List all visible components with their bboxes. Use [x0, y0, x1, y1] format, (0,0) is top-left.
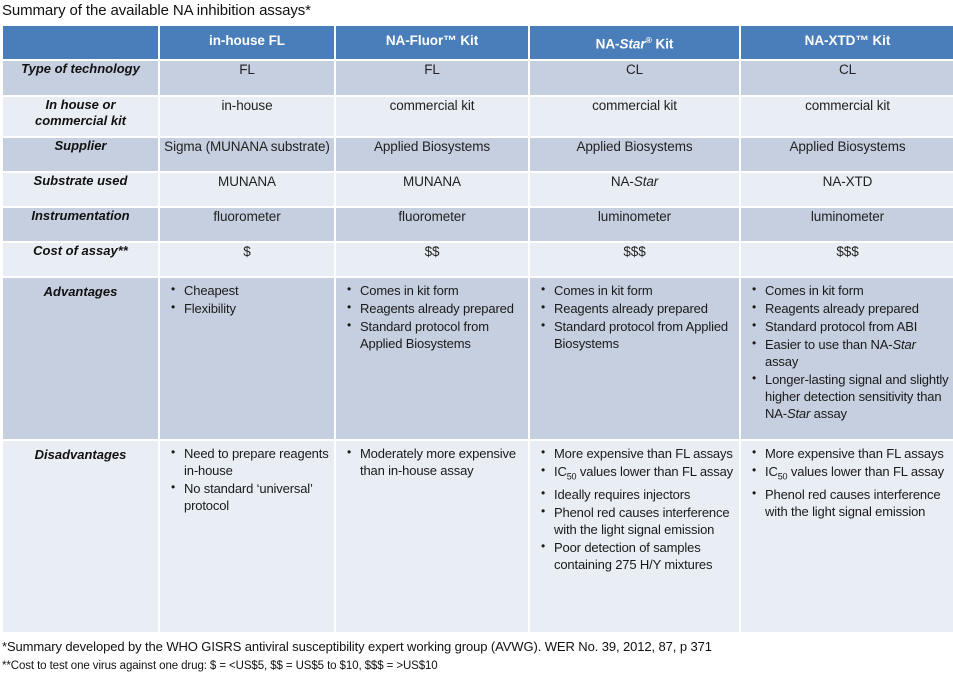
table-header-row: in-house FL NA-Fluor™ Kit NA-Star® Kit N…	[3, 26, 953, 59]
bullet-list: More expensive than FL assaysIC50 values…	[530, 445, 739, 574]
cell-type-of-technology-inhouse-fl: FL	[160, 61, 334, 95]
bullet-item: Comes in kit form	[763, 282, 950, 299]
cell-disadvantages-inhouse-fl: Need to prepare reagents in-houseNo stan…	[160, 441, 334, 632]
bullet-item: Reagents already prepared	[763, 300, 950, 317]
bullet-list: Comes in kit formReagents already prepar…	[530, 282, 739, 352]
cell-substrate-used-na-xtd: NA-XTD	[741, 173, 953, 206]
row-label-instrumentation: Instrumentation	[3, 208, 158, 241]
table-row-disadvantages: Disadvantages Need to prepare reagents i…	[3, 441, 953, 632]
cell-in-house-or-commercial-kit-na-fluor: commercial kit	[336, 97, 528, 136]
bullet-list: Moderately more expensive than in-house …	[336, 445, 528, 479]
bullet-item: Moderately more expensive than in-house …	[358, 445, 524, 479]
cell-supplier-na-xtd: Applied Biosystems	[741, 138, 953, 171]
row-label-supplier: Supplier	[3, 138, 158, 171]
table-row-supplier: Supplier Sigma (MUNANA substrate) Applie…	[3, 138, 953, 171]
table-row-type-of-technology: Type of technology FL FL CL CL	[3, 61, 953, 95]
cell-in-house-or-commercial-kit-na-star: commercial kit	[530, 97, 739, 136]
footnote-summary-source: *Summary developed by the WHO GISRS anti…	[2, 638, 953, 655]
bullet-item: Longer-lasting signal and slightly highe…	[763, 371, 950, 422]
cell-disadvantages-na-fluor: Moderately more expensive than in-house …	[336, 441, 528, 632]
column-header-inhouse-fl: in-house FL	[160, 26, 334, 59]
table-row-advantages: Advantages CheapestFlexibility Comes in …	[3, 278, 953, 439]
column-header-na-xtd: NA-XTD™ Kit	[741, 26, 953, 59]
bullet-item: Reagents already prepared	[358, 300, 524, 317]
bullet-item: IC50 values lower than FL assay	[552, 463, 735, 486]
table-row-in-house-or-commercial-kit: In house orcommercial kit in-house comme…	[3, 97, 953, 136]
cell-disadvantages-na-star: More expensive than FL assaysIC50 values…	[530, 441, 739, 632]
column-header-na-star: NA-Star® Kit	[530, 26, 739, 59]
cell-cost-of-assay-na-star: $$$	[530, 243, 739, 276]
bullet-item: Poor detection of samples containing 275…	[552, 539, 735, 573]
bullet-item: Reagents already prepared	[552, 300, 735, 317]
cell-advantages-na-star: Comes in kit formReagents already prepar…	[530, 278, 739, 439]
row-label-disadvantages: Disadvantages	[3, 441, 158, 632]
bullet-item: Standard protocol from Applied Biosystem…	[358, 318, 524, 352]
table-row-instrumentation: Instrumentation fluorometer fluorometer …	[3, 208, 953, 241]
bullet-item: Easier to use than NA-Star assay	[763, 336, 950, 370]
footnote-cost-legend: **Cost to test one virus against one dru…	[2, 655, 953, 674]
table-body: Type of technology FL FL CL CL In house …	[3, 61, 953, 632]
cell-advantages-na-fluor: Comes in kit formReagents already prepar…	[336, 278, 528, 439]
bullet-item: Standard protocol from ABI	[763, 318, 950, 335]
cell-type-of-technology-na-fluor: FL	[336, 61, 528, 95]
cell-advantages-inhouse-fl: CheapestFlexibility	[160, 278, 334, 439]
bullet-item: Comes in kit form	[358, 282, 524, 299]
page-root: Summary of the available NA inhibition a…	[0, 0, 953, 644]
bullet-item: Flexibility	[182, 300, 330, 317]
cell-type-of-technology-na-star: CL	[530, 61, 739, 95]
bullet-item: Standard protocol from Applied Biosystem…	[552, 318, 735, 352]
table-row-substrate-used: Substrate used MUNANA MUNANA NA-Star NA-…	[3, 173, 953, 206]
bullet-item: Need to prepare reagents in-house	[182, 445, 330, 479]
cell-substrate-used-na-star: NA-Star	[530, 173, 739, 206]
cell-substrate-used-na-fluor: MUNANA	[336, 173, 528, 206]
bullet-list: Comes in kit formReagents already prepar…	[741, 282, 953, 422]
header-corner-blank	[3, 26, 158, 59]
bullet-item: More expensive than FL assays	[763, 445, 950, 462]
cell-advantages-na-xtd: Comes in kit formReagents already prepar…	[741, 278, 953, 439]
bullet-list: CheapestFlexibility	[160, 282, 334, 317]
cell-instrumentation-inhouse-fl: fluorometer	[160, 208, 334, 241]
row-label-substrate-used: Substrate used	[3, 173, 158, 206]
cell-instrumentation-na-fluor: fluorometer	[336, 208, 528, 241]
assay-comparison-table: in-house FL NA-Fluor™ Kit NA-Star® Kit N…	[1, 24, 953, 634]
table-header: in-house FL NA-Fluor™ Kit NA-Star® Kit N…	[3, 26, 953, 59]
bullet-list: More expensive than FL assaysIC50 values…	[741, 445, 953, 521]
bullet-item: Phenol red causes interference with the …	[552, 504, 735, 538]
bullet-item: No standard ‘universal’ protocol	[182, 480, 330, 514]
cell-supplier-na-fluor: Applied Biosystems	[336, 138, 528, 171]
footnotes: *Summary developed by the WHO GISRS anti…	[0, 634, 953, 674]
cell-substrate-used-inhouse-fl: MUNANA	[160, 173, 334, 206]
bullet-list: Comes in kit formReagents already prepar…	[336, 282, 528, 352]
row-label-type-of-technology: Type of technology	[3, 61, 158, 95]
bullet-item: Phenol red causes interference with the …	[763, 486, 950, 520]
bullet-item: More expensive than FL assays	[552, 445, 735, 462]
cell-cost-of-assay-na-fluor: $$	[336, 243, 528, 276]
bullet-list: Need to prepare reagents in-houseNo stan…	[160, 445, 334, 514]
bullet-item: IC50 values lower than FL assay	[763, 463, 950, 486]
cell-instrumentation-na-xtd: luminometer	[741, 208, 953, 241]
cell-supplier-na-star: Applied Biosystems	[530, 138, 739, 171]
cell-in-house-or-commercial-kit-na-xtd: commercial kit	[741, 97, 953, 136]
bullet-item: Cheapest	[182, 282, 330, 299]
cell-supplier-inhouse-fl: Sigma (MUNANA substrate)	[160, 138, 334, 171]
cell-in-house-or-commercial-kit-inhouse-fl: in-house	[160, 97, 334, 136]
cell-instrumentation-na-star: luminometer	[530, 208, 739, 241]
row-label-advantages: Advantages	[3, 278, 158, 439]
cell-cost-of-assay-na-xtd: $$$	[741, 243, 953, 276]
table-row-cost-of-assay: Cost of assay** $ $$ $$$ $$$	[3, 243, 953, 276]
row-label-cost-of-assay: Cost of assay**	[3, 243, 158, 276]
column-header-na-fluor: NA-Fluor™ Kit	[336, 26, 528, 59]
cell-disadvantages-na-xtd: More expensive than FL assaysIC50 values…	[741, 441, 953, 632]
cell-cost-of-assay-inhouse-fl: $	[160, 243, 334, 276]
cell-type-of-technology-na-xtd: CL	[741, 61, 953, 95]
bullet-item: Comes in kit form	[552, 282, 735, 299]
row-label-in-house-or-commercial-kit: In house orcommercial kit	[3, 97, 158, 136]
page-title: Summary of the available NA inhibition a…	[0, 0, 953, 24]
bullet-item: Ideally requires injectors	[552, 486, 735, 503]
